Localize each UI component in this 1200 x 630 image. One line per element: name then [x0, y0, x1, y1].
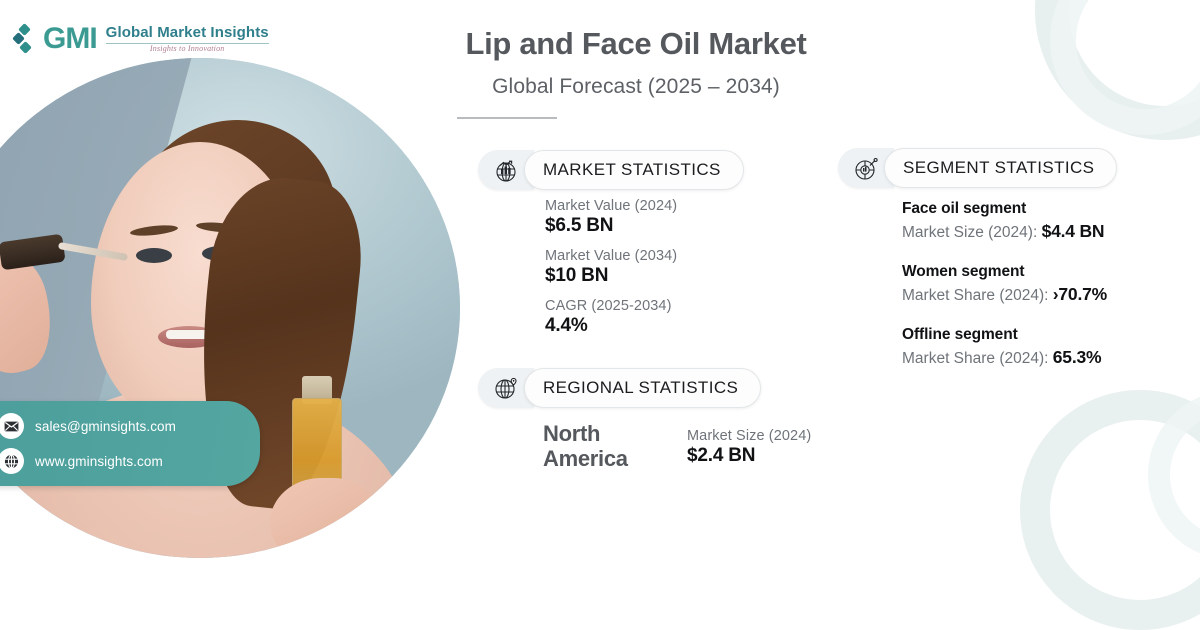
segment-metric-label: Market Share (2024):	[902, 350, 1053, 367]
segment-name: Face oil segment	[902, 200, 1107, 218]
page-subtitle: Global Forecast (2025 – 2034)	[455, 75, 817, 99]
section-header-regional-statistics[interactable]: REGIONAL STATISTICS	[478, 368, 761, 408]
heading-block: Lip and Face Oil Market Global Forecast …	[455, 26, 1155, 119]
segment-row: Face oil segment Market Size (2024): $4.…	[902, 200, 1107, 242]
section-label-segment-statistics: SEGMENT STATISTICS	[884, 148, 1117, 188]
brand-logo: GMI Global Market Insights Insights to I…	[14, 24, 269, 54]
segment-metric-label: Market Share (2024):	[902, 287, 1053, 304]
segment-metric-value: $4.4 BN	[1042, 221, 1105, 241]
stat-row: Market Value (2024) $6.5 BN	[545, 198, 677, 237]
segment-statistics-values: Face oil segment Market Size (2024): $4.…	[902, 200, 1107, 368]
stat-label: Market Value (2024)	[545, 198, 677, 214]
stat-row: CAGR (2025-2034) 4.4%	[545, 298, 677, 337]
segment-metric: Market Share (2024): ›70.7%	[902, 284, 1107, 305]
segment-metric: Market Share (2024): 65.3%	[902, 347, 1107, 368]
diamond-cluster-icon	[14, 24, 34, 54]
brand-mark: GMI	[43, 24, 97, 54]
page-title: Lip and Face Oil Market	[455, 26, 817, 62]
contact-panel: sales@gminsights.com www.gminsights.com	[0, 401, 260, 486]
segment-metric-label: Market Size (2024):	[902, 224, 1042, 241]
segment-row: Women segment Market Share (2024): ›70.7…	[902, 263, 1107, 305]
stat-label: CAGR (2025-2034)	[545, 298, 677, 314]
segment-metric: Market Size (2024): $4.4 BN	[902, 221, 1107, 242]
contact-website: www.gminsights.com	[35, 454, 163, 469]
contact-email: sales@gminsights.com	[35, 419, 176, 434]
globe-icon	[0, 448, 24, 474]
region-metric-value: $2.4 BN	[687, 445, 811, 467]
segment-metric-value: ›70.7%	[1053, 284, 1107, 304]
market-statistics-values: Market Value (2024) $6.5 BN Market Value…	[545, 198, 677, 337]
region-name: North America	[543, 422, 661, 471]
brand-tagline: Insights to Innovation	[106, 45, 269, 54]
heading-divider	[457, 117, 557, 119]
model-hand-right	[270, 478, 380, 558]
decorative-ring-bottom-right-inner	[1148, 390, 1200, 560]
regional-statistics-values: North America Market Size (2024) $2.4 BN	[543, 422, 811, 471]
segment-row: Offline segment Market Share (2024): 65.…	[902, 326, 1107, 368]
contact-website-row[interactable]: www.gminsights.com	[0, 448, 246, 474]
envelope-icon	[0, 413, 24, 439]
stat-label: Market Value (2034)	[545, 248, 677, 264]
stat-value: $6.5 BN	[545, 215, 677, 237]
section-header-market-statistics[interactable]: MARKET STATISTICS	[478, 150, 744, 190]
contact-email-row[interactable]: sales@gminsights.com	[0, 413, 246, 439]
stat-value: 4.4%	[545, 315, 677, 337]
section-header-segment-statistics[interactable]: SEGMENT STATISTICS	[838, 148, 1117, 188]
region-metric: Market Size (2024) $2.4 BN	[687, 422, 811, 467]
region-metric-label: Market Size (2024)	[687, 428, 811, 444]
stat-row: Market Value (2034) $10 BN	[545, 248, 677, 287]
decorative-ring-bottom-right-outer	[1020, 390, 1200, 630]
section-label-regional-statistics: REGIONAL STATISTICS	[524, 368, 761, 408]
segment-name: Offline segment	[902, 326, 1107, 344]
segment-metric-value: 65.3%	[1053, 347, 1102, 367]
segment-name: Women segment	[902, 263, 1107, 281]
section-label-market-statistics: MARKET STATISTICS	[524, 150, 744, 190]
brand-name: Global Market Insights	[106, 25, 269, 41]
model-eye-left	[136, 248, 172, 263]
stat-value: $10 BN	[545, 265, 677, 287]
brand-wordmark: Global Market Insights Insights to Innov…	[106, 25, 269, 54]
